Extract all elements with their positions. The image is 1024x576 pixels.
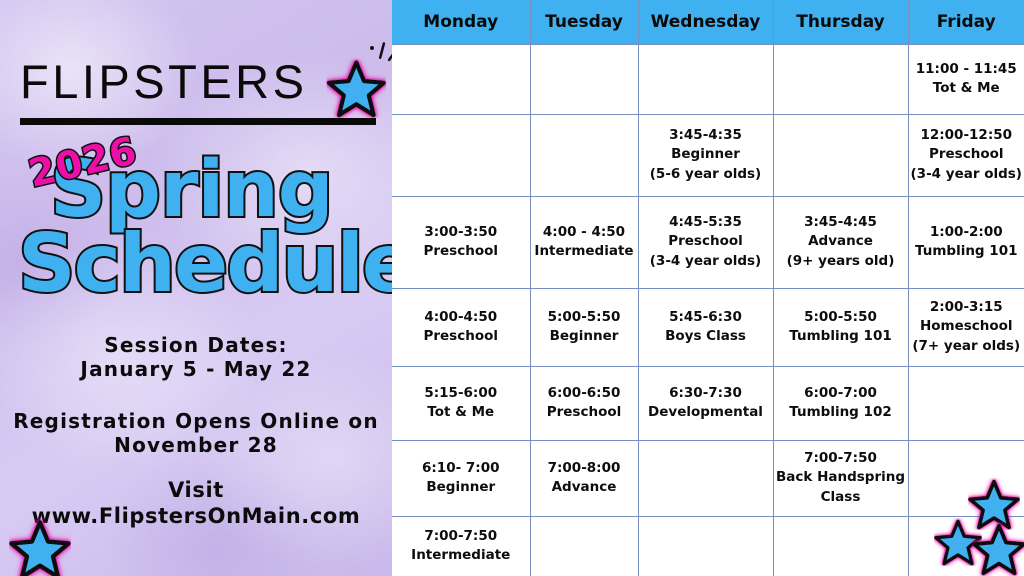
class-cell-line: Intermediate xyxy=(533,242,636,261)
class-cell-line: 11:00 - 11:45 xyxy=(911,60,1023,79)
class-cell-line: 7:00-7:50 xyxy=(394,527,528,546)
class-cell-line: 6:10- 7:00 xyxy=(394,459,528,478)
class-cell-friday[interactable]: 12:00-12:50Preschool(3-4 year olds) xyxy=(908,114,1024,196)
class-cell-line: Tumbling 101 xyxy=(776,327,906,346)
table-row: 6:10- 7:00Beginner7:00-8:00Advance7:00-7… xyxy=(392,440,1024,516)
schedule-table-wrapper: Monday Tuesday Wednesday Thursday Friday… xyxy=(392,0,1024,576)
table-row: 3:45-4:35Beginner(5-6 year olds)12:00-12… xyxy=(392,114,1024,196)
class-cell-line: Preschool xyxy=(911,145,1023,164)
table-row: 4:00-4:50Preschool5:00-5:50Beginner5:45-… xyxy=(392,288,1024,366)
class-cell-line: 4:45-5:35 xyxy=(641,213,771,232)
class-cell-line: Back Handspring xyxy=(776,468,906,487)
class-cell-monday[interactable]: 6:10- 7:00Beginner xyxy=(392,440,530,516)
empty-cell-friday xyxy=(908,516,1024,576)
class-cell-line: Beginner xyxy=(533,327,636,346)
class-cell-line: Advance xyxy=(776,232,906,251)
session-dates-value: January 5 - May 22 xyxy=(0,357,392,381)
empty-cell-tuesday xyxy=(530,44,638,114)
class-cell-line: Preschool xyxy=(394,327,528,346)
empty-cell-tuesday xyxy=(530,516,638,576)
registration-notice: Registration Opens Online on November 28 xyxy=(0,409,392,458)
class-cell-line: 5:45-6:30 xyxy=(641,308,771,327)
class-cell-thursday[interactable]: 3:45-4:45Advance(9+ years old) xyxy=(773,196,908,288)
class-cell-line: 6:00-7:00 xyxy=(776,384,906,403)
empty-cell-thursday xyxy=(773,516,908,576)
class-cell-line: (5-6 year olds) xyxy=(641,165,771,184)
class-cell-wednesday[interactable]: 3:45-4:35Beginner(5-6 year olds) xyxy=(638,114,773,196)
column-header-monday: Monday xyxy=(392,0,530,44)
empty-cell-wednesday xyxy=(638,44,773,114)
class-cell-wednesday[interactable]: 4:45-5:35Preschool(3-4 year olds) xyxy=(638,196,773,288)
class-cell-line: 2:00-3:15 xyxy=(911,298,1023,317)
class-cell-line: Tot & Me xyxy=(911,79,1023,98)
schedule-table: Monday Tuesday Wednesday Thursday Friday… xyxy=(392,0,1024,576)
class-cell-monday[interactable]: 3:00-3:50Preschool xyxy=(392,196,530,288)
empty-cell-monday xyxy=(392,44,530,114)
class-cell-line: Advance xyxy=(533,478,636,497)
class-cell-tuesday[interactable]: 6:00-6:50Preschool xyxy=(530,366,638,440)
class-cell-line: Preschool xyxy=(533,403,636,422)
star-icon xyxy=(325,42,392,124)
class-cell-tuesday[interactable]: 4:00 - 4:50Intermediate xyxy=(530,196,638,288)
empty-cell-friday xyxy=(908,366,1024,440)
class-cell-wednesday[interactable]: 5:45-6:30Boys Class xyxy=(638,288,773,366)
class-cell-line: Intermediate xyxy=(394,546,528,565)
empty-cell-wednesday xyxy=(638,516,773,576)
table-row: 7:00-7:50Intermediate xyxy=(392,516,1024,576)
empty-cell-friday xyxy=(908,440,1024,516)
class-cell-thursday[interactable]: 7:00-7:50Back HandspringClass xyxy=(773,440,908,516)
class-cell-tuesday[interactable]: 5:00-5:50Beginner xyxy=(530,288,638,366)
column-header-friday: Friday xyxy=(908,0,1024,44)
class-cell-line: Beginner xyxy=(394,478,528,497)
class-cell-line: 6:00-6:50 xyxy=(533,384,636,403)
registration-line-1: Registration Opens Online on xyxy=(0,409,392,433)
class-cell-line: 12:00-12:50 xyxy=(911,126,1023,145)
class-cell-line: Beginner xyxy=(641,145,771,164)
poster-left-panel: FLIPSTERS 2026 Spring Schedule Sessi xyxy=(0,0,392,576)
class-cell-line: Class xyxy=(776,488,906,507)
class-cell-line: Boys Class xyxy=(641,327,771,346)
class-cell-line: 3:00-3:50 xyxy=(394,223,528,242)
class-cell-wednesday[interactable]: 6:30-7:30Developmental xyxy=(638,366,773,440)
class-cell-thursday[interactable]: 5:00-5:50Tumbling 101 xyxy=(773,288,908,366)
class-cell-line: 6:30-7:30 xyxy=(641,384,771,403)
class-cell-thursday[interactable]: 6:00-7:00Tumbling 102 xyxy=(773,366,908,440)
session-dates-label: Session Dates: xyxy=(0,333,392,357)
empty-cell-thursday xyxy=(773,114,908,196)
class-cell-line: Developmental xyxy=(641,403,771,422)
class-cell-line: 7:00-8:00 xyxy=(533,459,636,478)
class-cell-line: Tot & Me xyxy=(394,403,528,422)
class-cell-friday[interactable]: 11:00 - 11:45Tot & Me xyxy=(908,44,1024,114)
schedule-table-body: 11:00 - 11:45Tot & Me3:45-4:35Beginner(5… xyxy=(392,44,1024,576)
class-cell-line: Preschool xyxy=(641,232,771,251)
brand-underline xyxy=(20,118,376,125)
star-icon xyxy=(8,518,72,576)
class-cell-line: 4:00-4:50 xyxy=(394,308,528,327)
column-header-wednesday: Wednesday xyxy=(638,0,773,44)
class-cell-monday[interactable]: 7:00-7:50Intermediate xyxy=(392,516,530,576)
empty-cell-monday xyxy=(392,114,530,196)
registration-line-2: November 28 xyxy=(0,433,392,457)
class-cell-line: 3:45-4:35 xyxy=(641,126,771,145)
class-cell-line: 1:00-2:00 xyxy=(911,223,1023,242)
class-cell-friday[interactable]: 2:00-3:15Homeschool(7+ year olds) xyxy=(908,288,1024,366)
class-cell-friday[interactable]: 1:00-2:00Tumbling 101 xyxy=(908,196,1024,288)
spring-schedule-poster: FLIPSTERS 2026 Spring Schedule Sessi xyxy=(0,0,1024,576)
empty-cell-tuesday xyxy=(530,114,638,196)
headline-line-schedule: Schedule xyxy=(14,227,389,301)
class-cell-line: Tumbling 102 xyxy=(776,403,906,422)
table-row: 11:00 - 11:45Tot & Me xyxy=(392,44,1024,114)
table-row: 5:15-6:00Tot & Me6:00-6:50Preschool6:30-… xyxy=(392,366,1024,440)
class-cell-line: (9+ years old) xyxy=(776,252,906,271)
class-cell-line: 5:00-5:50 xyxy=(533,308,636,327)
class-cell-line: Tumbling 101 xyxy=(911,242,1023,261)
class-cell-line: (7+ year olds) xyxy=(911,337,1023,356)
class-cell-line: 4:00 - 4:50 xyxy=(533,223,636,242)
class-cell-line: 5:00-5:50 xyxy=(776,308,906,327)
empty-cell-wednesday xyxy=(638,440,773,516)
table-row: 3:00-3:50Preschool4:00 - 4:50Intermediat… xyxy=(392,196,1024,288)
class-cell-line: 7:00-7:50 xyxy=(776,449,906,468)
class-cell-line: (3-4 year olds) xyxy=(641,252,771,271)
class-cell-monday[interactable]: 4:00-4:50Preschool xyxy=(392,288,530,366)
class-cell-tuesday[interactable]: 7:00-8:00Advance xyxy=(530,440,638,516)
table-header-row: Monday Tuesday Wednesday Thursday Friday xyxy=(392,0,1024,44)
column-header-thursday: Thursday xyxy=(773,0,908,44)
column-header-tuesday: Tuesday xyxy=(530,0,638,44)
empty-cell-thursday xyxy=(773,44,908,114)
class-cell-line: 3:45-4:45 xyxy=(776,213,906,232)
class-cell-line: Preschool xyxy=(394,242,528,261)
class-cell-line: (3-4 year olds) xyxy=(911,165,1023,184)
class-cell-line: 5:15-6:00 xyxy=(394,384,528,403)
class-cell-line: Homeschool xyxy=(911,317,1023,336)
session-dates: Session Dates: January 5 - May 22 xyxy=(0,333,392,382)
class-cell-monday[interactable]: 5:15-6:00Tot & Me xyxy=(392,366,530,440)
brand-logo: FLIPSTERS xyxy=(20,58,380,120)
